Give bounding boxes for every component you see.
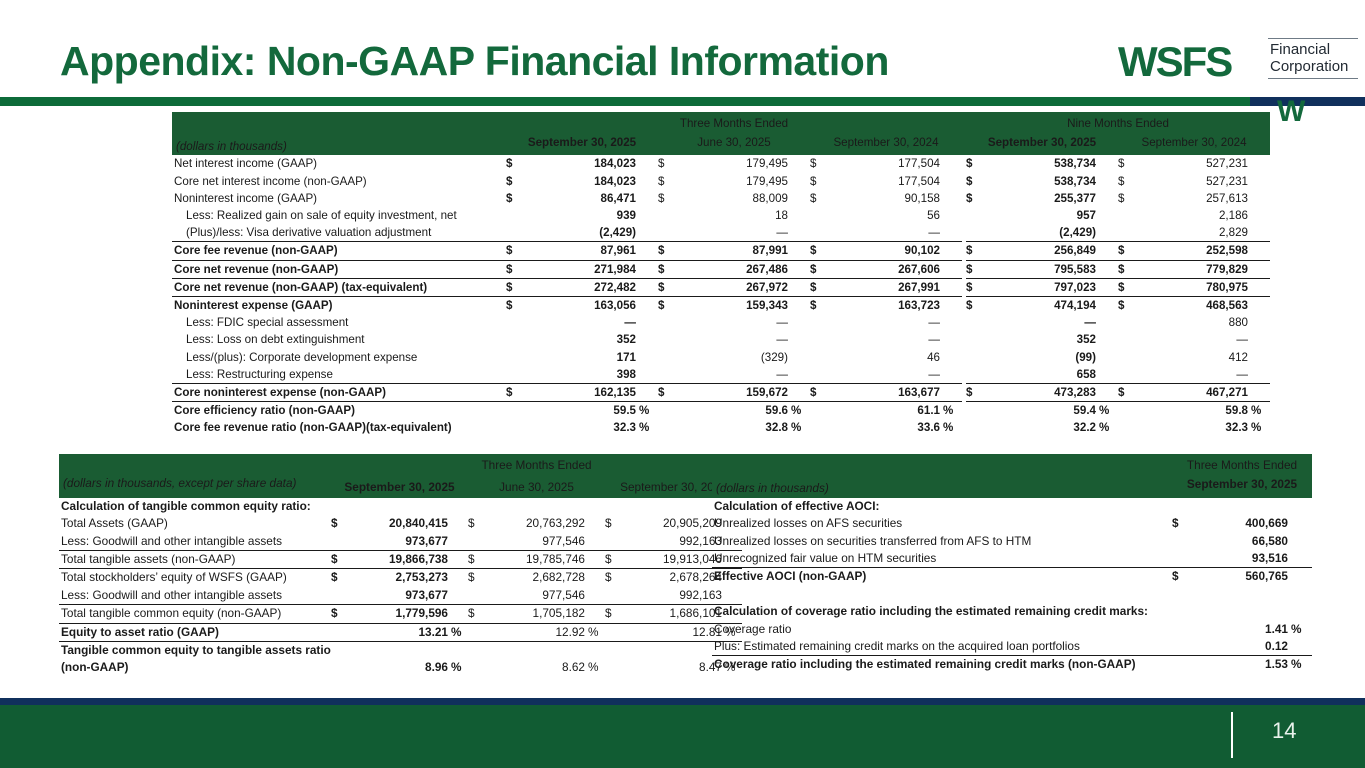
currency-symbol: $ [331,569,353,587]
value-cell: 1.41 [1196,621,1288,638]
currency-symbol [1172,621,1196,638]
table-row: Core net revenue (non-GAAP) (tax-equival… [172,278,1270,296]
percent-symbol: % [788,402,810,420]
row-label: Total Assets (GAAP) [59,515,331,532]
value-cell: 267,606 [832,260,940,278]
row-label: Effective AOCI (non-GAAP) [712,568,1172,586]
currency-symbol: $ [468,551,490,569]
currency-symbol: $ [506,242,528,260]
table-row: Total tangible assets (non-GAAP)$19,866,… [59,551,742,569]
currency-symbol [810,419,832,436]
currency-symbol [468,533,490,551]
percent-symbol [1288,515,1312,532]
percent-symbol [1096,314,1118,331]
value-cell: 8.47 [627,642,722,677]
currency-symbol [658,224,680,242]
value-cell: 12.81 [627,623,722,641]
row-label: Total stockholders’ equity of WSFS (GAAP… [59,569,331,587]
currency-symbol: $ [966,190,988,207]
currency-symbol: $ [966,260,988,278]
value-cell: 32.3 [1140,419,1248,436]
value-cell: 90,158 [832,190,940,207]
percent-symbol [448,515,468,532]
tangible-common-equity-table: Three Months Ended(dollars in thousands,… [59,454,742,677]
group-header-nine-months: Nine Months Ended [966,112,1270,133]
main-unit-note: (dollars in thousands) [172,133,506,155]
footer-bar [0,705,1365,768]
table-row: Calculation of effective AOCI: [712,498,1312,515]
currency-symbol [331,642,353,677]
currency-symbol: $ [506,173,528,190]
percent-symbol [1096,207,1118,224]
percent-symbol [636,207,658,224]
currency-symbol [1172,550,1196,568]
currency-symbol [1118,207,1140,224]
value-cell: 163,677 [832,384,940,402]
value-cell: — [988,314,1096,331]
percent-symbol [448,569,468,587]
currency-symbol [331,533,353,551]
percent-symbol [788,155,810,172]
row-label: Noninterest expense (GAAP) [172,297,506,315]
tce-column-header-row: (dollars in thousands, except per share … [59,475,742,497]
percent-symbol [636,173,658,190]
value-cell: 977,546 [490,587,585,605]
percent-symbol [636,297,658,315]
percent-symbol [636,190,658,207]
table-row: Calculation of coverage ratio including … [712,603,1312,620]
value-cell: — [680,224,788,242]
aoci-table-body: Calculation of effective AOCI:Unrealized… [712,498,1312,674]
currency-symbol [810,224,832,242]
percent-symbol [940,278,962,296]
row-label: Core fee revenue (non-GAAP) [172,242,506,260]
percent-symbol [940,242,962,260]
currency-symbol: $ [1118,297,1140,315]
row-label: Unrecognized fair value on HTM securitie… [712,550,1172,568]
value-cell: 171 [528,349,636,366]
table-row: Total tangible common equity (non-GAAP)$… [59,605,742,623]
percent-symbol [940,155,962,172]
row-label: Noninterest income (GAAP) [172,190,506,207]
value-cell: 973,677 [353,587,448,605]
aoci-unit-note: (dollars in thousands) [712,475,1172,497]
percent-symbol [448,551,468,569]
table-row: Effective AOCI (non-GAAP)$560,765 [712,568,1312,586]
percent-symbol [448,533,468,551]
value-cell: 1,705,182 [490,605,585,623]
percent-symbol [636,314,658,331]
table-row: Less: Loss on debt extinguishment352——35… [172,331,1270,348]
value-cell: — [832,224,940,242]
percent-symbol [1288,568,1312,586]
logo-rule-top [1268,38,1358,39]
percent-symbol [788,224,810,242]
logo-subtext: Financial Corporation [1270,41,1348,75]
aoci-table-header: Three Months Ended(dollars in thousands)… [712,454,1312,498]
row-label: Unrealized losses on securities transfer… [712,533,1172,550]
currency-symbol [658,366,680,384]
value-cell: 163,723 [832,297,940,315]
percent-symbol [1248,190,1270,207]
value-cell: 352 [528,331,636,348]
value-cell: 177,504 [832,155,940,172]
percent-symbol [585,533,605,551]
currency-symbol: $ [810,278,832,296]
table-row: Less: Restructuring expense398——658— [172,366,1270,384]
main-column-header-row: (dollars in thousands)September 30, 2025… [172,133,1270,155]
currency-symbol: $ [658,173,680,190]
currency-symbol [810,402,832,420]
percent-symbol [1248,207,1270,224]
percent-symbol [940,207,962,224]
percent-symbol [636,155,658,172]
currency-symbol [658,349,680,366]
currency-symbol: $ [506,260,528,278]
currency-symbol [658,331,680,348]
row-label: Core noninterest expense (non-GAAP) [172,384,506,402]
percent-symbol [940,190,962,207]
row-label: Less: Goodwill and other intangible asse… [59,533,331,551]
currency-symbol: $ [658,155,680,172]
row-label: Tangible common equity to tangible asset… [59,642,331,677]
table-row: Tangible common equity to tangible asset… [59,642,742,677]
group-header-three-months: Three Months Ended [506,112,962,133]
percent-symbol [585,551,605,569]
percent-symbol: % [1096,419,1118,436]
value-cell: (329) [680,349,788,366]
currency-symbol [658,419,680,436]
percent-symbol [788,366,810,384]
percent-symbol [1096,224,1118,242]
currency-symbol [966,207,988,224]
currency-symbol [658,207,680,224]
currency-symbol: $ [1118,173,1140,190]
value-cell: 272,482 [528,278,636,296]
currency-symbol [506,419,528,436]
percent-symbol [940,366,962,384]
currency-symbol [506,402,528,420]
table-row: Core noninterest expense (non-GAAP)$162,… [172,384,1270,402]
row-label: Core net revenue (non-GAAP) (tax-equival… [172,278,506,296]
value-cell: 267,486 [680,260,788,278]
row-label: Less: Realized gain on sale of equity in… [172,207,506,224]
value-cell: 880 [1140,314,1248,331]
section-spacer [1172,498,1312,515]
tce-group-header: Three Months Ended [331,454,742,475]
table-row: Less: FDIC special assessment————880 [172,314,1270,331]
percent-symbol [788,260,810,278]
value-cell: 56 [832,207,940,224]
currency-symbol [506,224,528,242]
percent-symbol [1288,550,1312,568]
percent-symbol [636,349,658,366]
table-row: Less: Realized gain on sale of equity in… [172,207,1270,224]
value-cell: 66,580 [1196,533,1288,550]
value-cell: 780,975 [1140,278,1248,296]
currency-symbol: $ [658,190,680,207]
currency-symbol: $ [506,155,528,172]
percent-symbol [788,314,810,331]
currency-symbol [1118,314,1140,331]
value-cell: 795,583 [988,260,1096,278]
percent-symbol [788,242,810,260]
value-cell: 184,023 [528,155,636,172]
row-label: Plus: Estimated remaining credit marks o… [712,638,1172,656]
percent-symbol [1096,331,1118,348]
value-cell: — [528,314,636,331]
value-cell: 2,682,728 [490,569,585,587]
value-cell: 977,546 [490,533,585,551]
logo-rule-bottom [1268,78,1358,79]
currency-symbol: $ [605,551,627,569]
percent-symbol [788,384,810,402]
value-cell: 93,516 [1196,550,1288,568]
value-cell: 159,672 [680,384,788,402]
currency-symbol [1172,656,1196,674]
tce-table-body: Calculation of tangible common equity ra… [59,498,742,677]
value-cell: 1,686,101 [627,605,722,623]
value-cell: 412 [1140,349,1248,366]
currency-symbol: $ [966,155,988,172]
percent-symbol [1248,384,1270,402]
percent-symbol [1096,190,1118,207]
logo-subtext-line1: Financial [1270,41,1348,58]
value-cell: 2,678,264 [627,569,722,587]
percent-symbol [1096,297,1118,315]
currency-symbol: $ [966,297,988,315]
value-cell: 939 [528,207,636,224]
percent-symbol [1248,224,1270,242]
row-label: (Plus)/less: Visa derivative valuation a… [172,224,506,242]
logo-subtext-line2: Corporation [1270,58,1348,75]
currency-symbol: $ [1118,384,1140,402]
row-label: Calculation of effective AOCI: [712,498,1172,515]
row-label: Core net interest income (non-GAAP) [172,173,506,190]
value-cell: 271,984 [528,260,636,278]
value-cell: 59.5 [528,402,636,420]
table-row: Coverage ratio1.41% [712,621,1312,638]
value-cell: 87,961 [528,242,636,260]
column-header-2: September 30, 2024 [810,133,962,155]
table-row: Core fee revenue (non-GAAP)$87,961$87,99… [172,242,1270,260]
row-label: Total tangible common equity (non-GAAP) [59,605,331,623]
main-group-header-row: Three Months EndedNine Months Ended [172,112,1270,133]
percent-symbol [788,190,810,207]
table-row: Total stockholders’ equity of WSFS (GAAP… [59,569,742,587]
value-cell: — [1140,331,1248,348]
currency-symbol [468,642,490,677]
footer-navy-stripe [0,698,1365,705]
currency-symbol: $ [810,155,832,172]
percent-symbol [1288,533,1312,550]
percent-symbol [940,173,962,190]
value-cell: 256,849 [988,242,1096,260]
value-cell: 252,598 [1140,242,1248,260]
value-cell: 13.21 [353,623,448,641]
value-cell: 538,734 [988,173,1096,190]
percent-symbol [1288,638,1312,656]
percent-symbol [1248,260,1270,278]
currency-symbol: $ [1172,515,1196,532]
percent-symbol [1248,331,1270,348]
table-row: Calculation of tangible common equity ra… [59,498,742,515]
currency-symbol [506,349,528,366]
value-cell: 400,669 [1196,515,1288,532]
currency-symbol: $ [1118,242,1140,260]
main-table-body: Net interest income (GAAP)$184,023$179,4… [172,155,1270,436]
table-row: (Plus)/less: Visa derivative valuation a… [172,224,1270,242]
currency-symbol: $ [506,297,528,315]
column-header-4: September 30, 2024 [1118,133,1270,155]
value-cell: — [832,314,940,331]
value-cell: 20,840,415 [353,515,448,532]
value-cell: 973,677 [353,533,448,551]
percent-symbol [636,260,658,278]
table-row: Unrealized losses on AFS securities$400,… [712,515,1312,532]
value-cell: 527,231 [1140,155,1248,172]
percent-symbol [585,569,605,587]
aoci-column-header-row: (dollars in thousands)September 30, 2025 [712,475,1312,497]
value-cell: 797,023 [988,278,1096,296]
value-cell: 162,135 [528,384,636,402]
currency-symbol [468,623,490,641]
currency-symbol [1172,638,1196,656]
main-table-header: Three Months EndedNine Months Ended(doll… [172,112,1270,155]
currency-symbol: $ [1118,190,1140,207]
currency-symbol [966,366,988,384]
row-label: Core efficiency ratio (non-GAAP) [172,402,506,420]
value-cell: — [832,366,940,384]
value-cell: 257,613 [1140,190,1248,207]
percent-symbol [585,515,605,532]
value-cell: 560,765 [1196,568,1288,586]
currency-symbol [966,349,988,366]
value-cell: — [832,331,940,348]
value-cell: 1,779,596 [353,605,448,623]
currency-symbol: $ [966,278,988,296]
currency-symbol: $ [658,242,680,260]
column-header-0: September 30, 2025 [506,133,658,155]
percent-symbol [1096,384,1118,402]
percent-symbol: % [788,419,810,436]
currency-symbol: $ [331,605,353,623]
row-label: Less: FDIC special assessment [172,314,506,331]
currency-symbol [810,366,832,384]
value-cell: 398 [528,366,636,384]
percent-symbol [788,207,810,224]
table-row: Equity to asset ratio (GAAP)13.21%12.92%… [59,623,742,641]
value-cell: 163,056 [528,297,636,315]
value-cell: 19,785,746 [490,551,585,569]
table-row: Total Assets (GAAP)$20,840,415$20,763,29… [59,515,742,532]
currency-symbol: $ [1118,260,1140,278]
currency-symbol [810,207,832,224]
currency-symbol [658,314,680,331]
value-cell: 46 [832,349,940,366]
percent-symbol [788,349,810,366]
section-spacer [1172,603,1312,620]
currency-symbol: $ [605,605,627,623]
value-cell: 474,194 [988,297,1096,315]
currency-symbol [1118,349,1140,366]
currency-symbol: $ [506,278,528,296]
logo-wordmark: WSFS [1118,38,1231,86]
percent-symbol [1248,366,1270,384]
percent-symbol [940,349,962,366]
percent-symbol: % [940,402,962,420]
percent-symbol [636,242,658,260]
currency-symbol: $ [966,242,988,260]
currency-symbol: $ [966,173,988,190]
currency-symbol: $ [658,260,680,278]
percent-symbol: % [1288,656,1312,674]
aoci-column-header: September 30, 2025 [1172,475,1312,497]
value-cell: 992,163 [627,587,722,605]
value-cell: 538,734 [988,155,1096,172]
table-row: Core efficiency ratio (non-GAAP)59.5%59.… [172,402,1270,420]
tce-table-header: Three Months Ended(dollars in thousands,… [59,454,742,498]
table-row: Less: Goodwill and other intangible asse… [59,587,742,605]
percent-symbol [788,297,810,315]
value-cell: 32.3 [528,419,636,436]
value-cell: 992,163 [627,533,722,551]
percent-symbol: % [1248,419,1270,436]
percent-symbol: % [585,642,605,677]
value-cell: 2,186 [1140,207,1248,224]
currency-symbol: $ [331,551,353,569]
table-row: Plus: Estimated remaining credit marks o… [712,638,1312,656]
value-cell: 20,905,209 [627,515,722,532]
wsfs-logo: WSFS Financial Corporation [1118,38,1358,86]
currency-symbol [506,314,528,331]
percent-symbol [1248,314,1270,331]
currency-symbol: $ [658,297,680,315]
value-cell: 179,495 [680,173,788,190]
currency-symbol [605,587,627,605]
row-label: Less/(plus): Corporate development expen… [172,349,506,366]
percent-symbol [1096,155,1118,172]
value-cell: 12.92 [490,623,585,641]
row-label: Less: Loss on debt extinguishment [172,331,506,348]
percent-symbol [1096,278,1118,296]
percent-symbol [1096,349,1118,366]
main-header-spacer [172,112,506,133]
value-cell: 8.96 [353,642,448,677]
table-row: Less: Goodwill and other intangible asse… [59,533,742,551]
header-rule-green [0,97,1288,106]
percent-symbol [1248,349,1270,366]
value-cell: 59.4 [988,402,1096,420]
value-cell: 59.6 [680,402,788,420]
aoci-group-header-row: Three Months Ended [712,454,1312,475]
value-cell: 527,231 [1140,173,1248,190]
table-row: Unrecognized fair value on HTM securitie… [712,550,1312,568]
currency-symbol: $ [605,569,627,587]
percent-symbol [1248,173,1270,190]
value-cell: 467,271 [1140,384,1248,402]
currency-symbol [966,314,988,331]
currency-symbol [331,587,353,605]
currency-symbol: $ [658,278,680,296]
value-cell: — [680,331,788,348]
percent-symbol [1248,297,1270,315]
value-cell: 658 [988,366,1096,384]
value-cell: 468,563 [1140,297,1248,315]
header-rule-navy [1250,97,1365,106]
column-header-3: September 30, 2025 [966,133,1118,155]
currency-symbol: $ [468,605,490,623]
